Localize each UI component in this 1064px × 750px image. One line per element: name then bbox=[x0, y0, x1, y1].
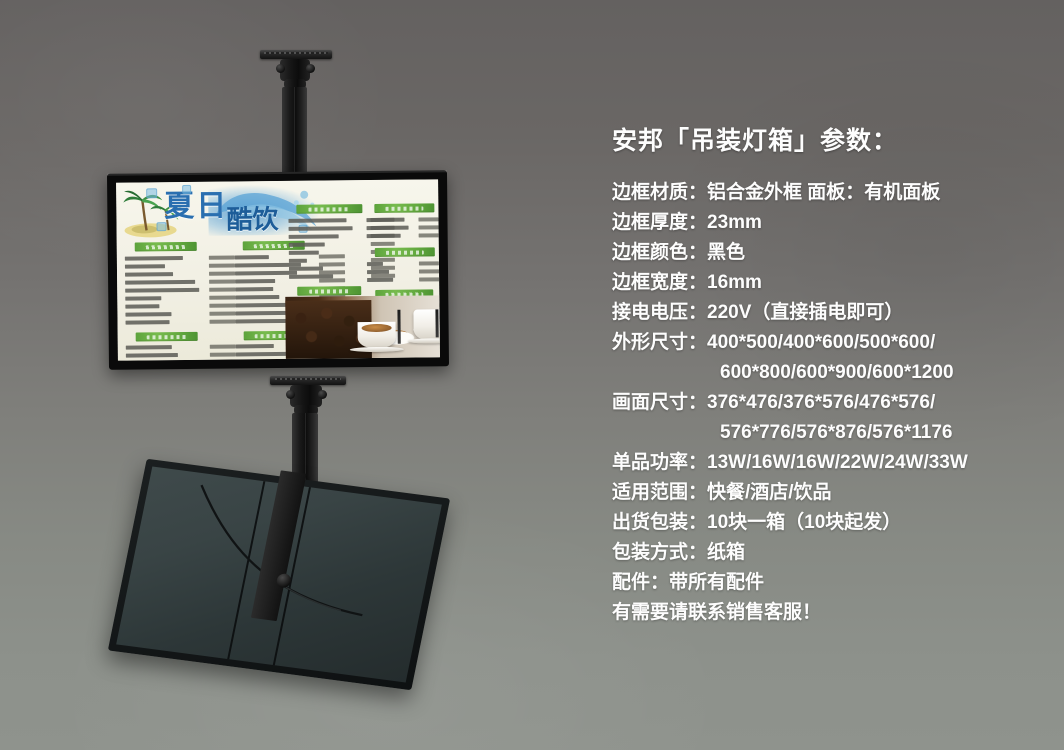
spec-panel: 安邦「吊装灯箱」参数： 边框材质：铝合金外框 面板：有机面板 边框厚度：23mm… bbox=[612, 126, 1032, 628]
menu-title-char-3: 酷 bbox=[226, 207, 252, 233]
coffee-saucer-right bbox=[408, 338, 440, 343]
lower-mount-plate bbox=[270, 376, 346, 385]
spec-line-voltage: 接电电压：220V（直接插电即可） bbox=[612, 298, 1032, 328]
tilt-knob-lower-left bbox=[286, 390, 295, 399]
spec-line-contact: 有需要请联系销售客服！ bbox=[612, 598, 1032, 628]
swivel-knuckle-lower bbox=[290, 385, 322, 407]
menu-title-char-4: 饮 bbox=[252, 207, 278, 233]
spec-line-graphic-size-cont: 576*776/576*876/576*1176 bbox=[612, 418, 1032, 448]
coffee-liquid bbox=[361, 324, 391, 332]
menu-artwork: 夏 日 酷 饮 bbox=[116, 179, 440, 360]
spec-line-accessories: 配件：带所有配件 bbox=[612, 568, 1032, 598]
lightbox-rear-panel[interactable] bbox=[108, 459, 450, 690]
spec-title: 安邦「吊装灯箱」参数： bbox=[612, 126, 1032, 156]
spec-line-power: 单品功率：13W/16W/16W/22W/24W/33W bbox=[612, 448, 1032, 478]
coffee-cup-center bbox=[358, 322, 396, 348]
coffee-photo bbox=[285, 295, 440, 359]
spec-line-frame-color: 边框颜色：黑色 bbox=[612, 238, 1032, 268]
spec-line-application: 适用范围：快餐/酒店/饮品 bbox=[612, 478, 1032, 508]
tilt-knob-lower-right bbox=[318, 390, 327, 399]
upper-ceiling-mount bbox=[250, 50, 360, 175]
product-photo-scene: 夏 日 酷 饮 bbox=[0, 0, 1064, 750]
ice-cube-decor-2 bbox=[182, 185, 191, 194]
ice-cube-decor-3 bbox=[156, 222, 166, 231]
pole-seam-upper bbox=[294, 87, 295, 175]
spec-line-frame-material: 边框材质：铝合金外框 面板：有机面板 bbox=[612, 178, 1032, 208]
ice-cube-decor-1 bbox=[146, 188, 157, 198]
spec-line-frame-width: 边框宽度：16mm bbox=[612, 268, 1032, 298]
tilt-knob-upper-left bbox=[276, 64, 285, 73]
lower-ceiling-mount bbox=[258, 376, 378, 491]
coffee-stirrer-2 bbox=[435, 309, 438, 337]
spec-line-outer-size-cont: 600*800/600*900/600*1200 bbox=[612, 358, 1032, 388]
ceiling-hung-lightbox[interactable]: 夏 日 酷 饮 bbox=[107, 170, 449, 370]
spec-line-shipping-pack: 出货包装：10块一箱（10块起发） bbox=[612, 508, 1032, 538]
frame-highlight bbox=[107, 170, 447, 176]
coffee-saucer-center bbox=[350, 347, 404, 353]
coffee-stirrer bbox=[397, 310, 400, 344]
spec-line-frame-thickness: 边框厚度：23mm bbox=[612, 208, 1032, 238]
spec-line-graphic-size: 画面尺寸：376*476/376*576/476*576/ bbox=[612, 388, 1032, 418]
lightbox-panel: 夏 日 酷 饮 bbox=[116, 179, 440, 360]
ceiling-mount-plate bbox=[260, 50, 332, 59]
menu-title-char-2: 日 bbox=[196, 192, 226, 222]
tilt-knob-upper-right bbox=[306, 64, 315, 73]
menu-title-char-1: 夏 bbox=[164, 192, 194, 222]
spec-line-outer-size: 外形尺寸：400*500/400*600/500*600/ bbox=[612, 328, 1032, 358]
spec-line-packing-method: 包装方式：纸箱 bbox=[612, 538, 1032, 568]
